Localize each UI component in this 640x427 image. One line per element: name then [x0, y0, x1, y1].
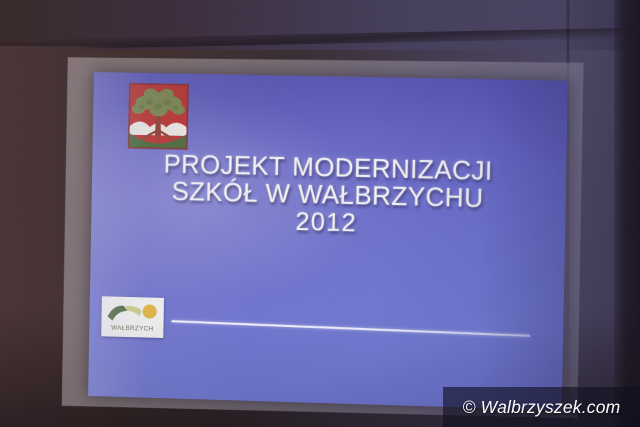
projection-photo-scene: PROJEKT MODERNIZACJI SZKÓŁ W WAŁBRZYCHU … — [0, 0, 640, 427]
slide-title: PROJEKT MODERNIZACJI SZKÓŁ W WAŁBRZYCHU … — [91, 150, 566, 243]
svg-text:WAŁBRZYCH: WAŁBRZYCH — [111, 325, 153, 333]
walbrzych-coat-of-arms-icon — [128, 83, 189, 150]
projected-slide: PROJEKT MODERNIZACJI SZKÓŁ W WAŁBRZYCHU … — [88, 72, 568, 410]
watermark-bar: © Walbrzyszek.com — [443, 387, 640, 427]
walbrzych-city-logo-icon: WAŁBRZYCH — [101, 296, 164, 338]
watermark-text: © Walbrzyszek.com — [463, 397, 621, 418]
